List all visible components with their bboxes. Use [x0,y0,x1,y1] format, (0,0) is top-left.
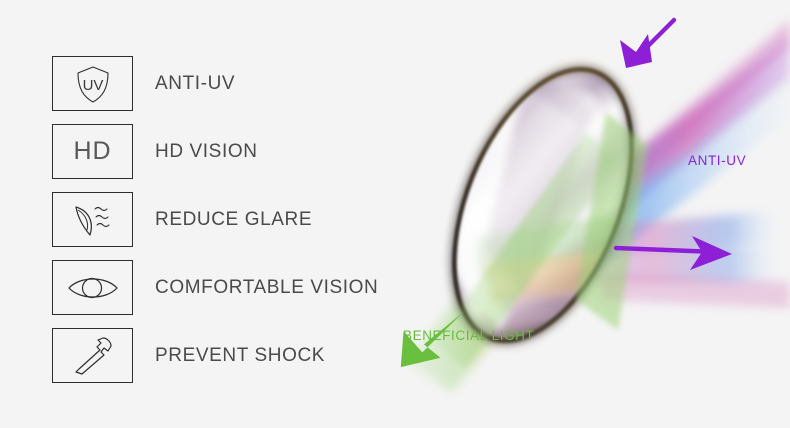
uv-shield-icon: UV [71,62,115,106]
feature-label: REDUCE GLARE [155,209,312,231]
feature-label: PREVENT SHOCK [155,345,325,367]
uv-shield-icon-box: UV [52,56,133,111]
glare-deflection-icon [69,200,117,240]
lens-light-diagram: ANTI-UV BENEFICIAL LIGHT [380,0,790,428]
lens-diagram-canvas [380,0,790,428]
hd-text-icon-box: HD [52,124,133,179]
hd-text-icon: HD [73,139,111,164]
feature-label: HD VISION [155,141,258,163]
feature-label: ANTI-UV [155,73,235,95]
eye-icon [65,272,121,304]
anti-uv-beam-label: ANTI-UV [688,153,746,168]
incoming-uv-arrow [620,20,674,68]
eye-icon-box [52,260,133,315]
feature-label: COMFORTABLE VISION [155,277,378,299]
hammer-icon-box [52,328,133,383]
svg-text:UV: UV [82,77,103,94]
hammer-icon [70,335,116,377]
page-root: UV ANTI-UV HD HD VISION R [0,0,790,428]
beneficial-light-beam-label: BENEFICIAL LIGHT [403,328,534,343]
glare-deflection-icon-box [52,192,133,247]
